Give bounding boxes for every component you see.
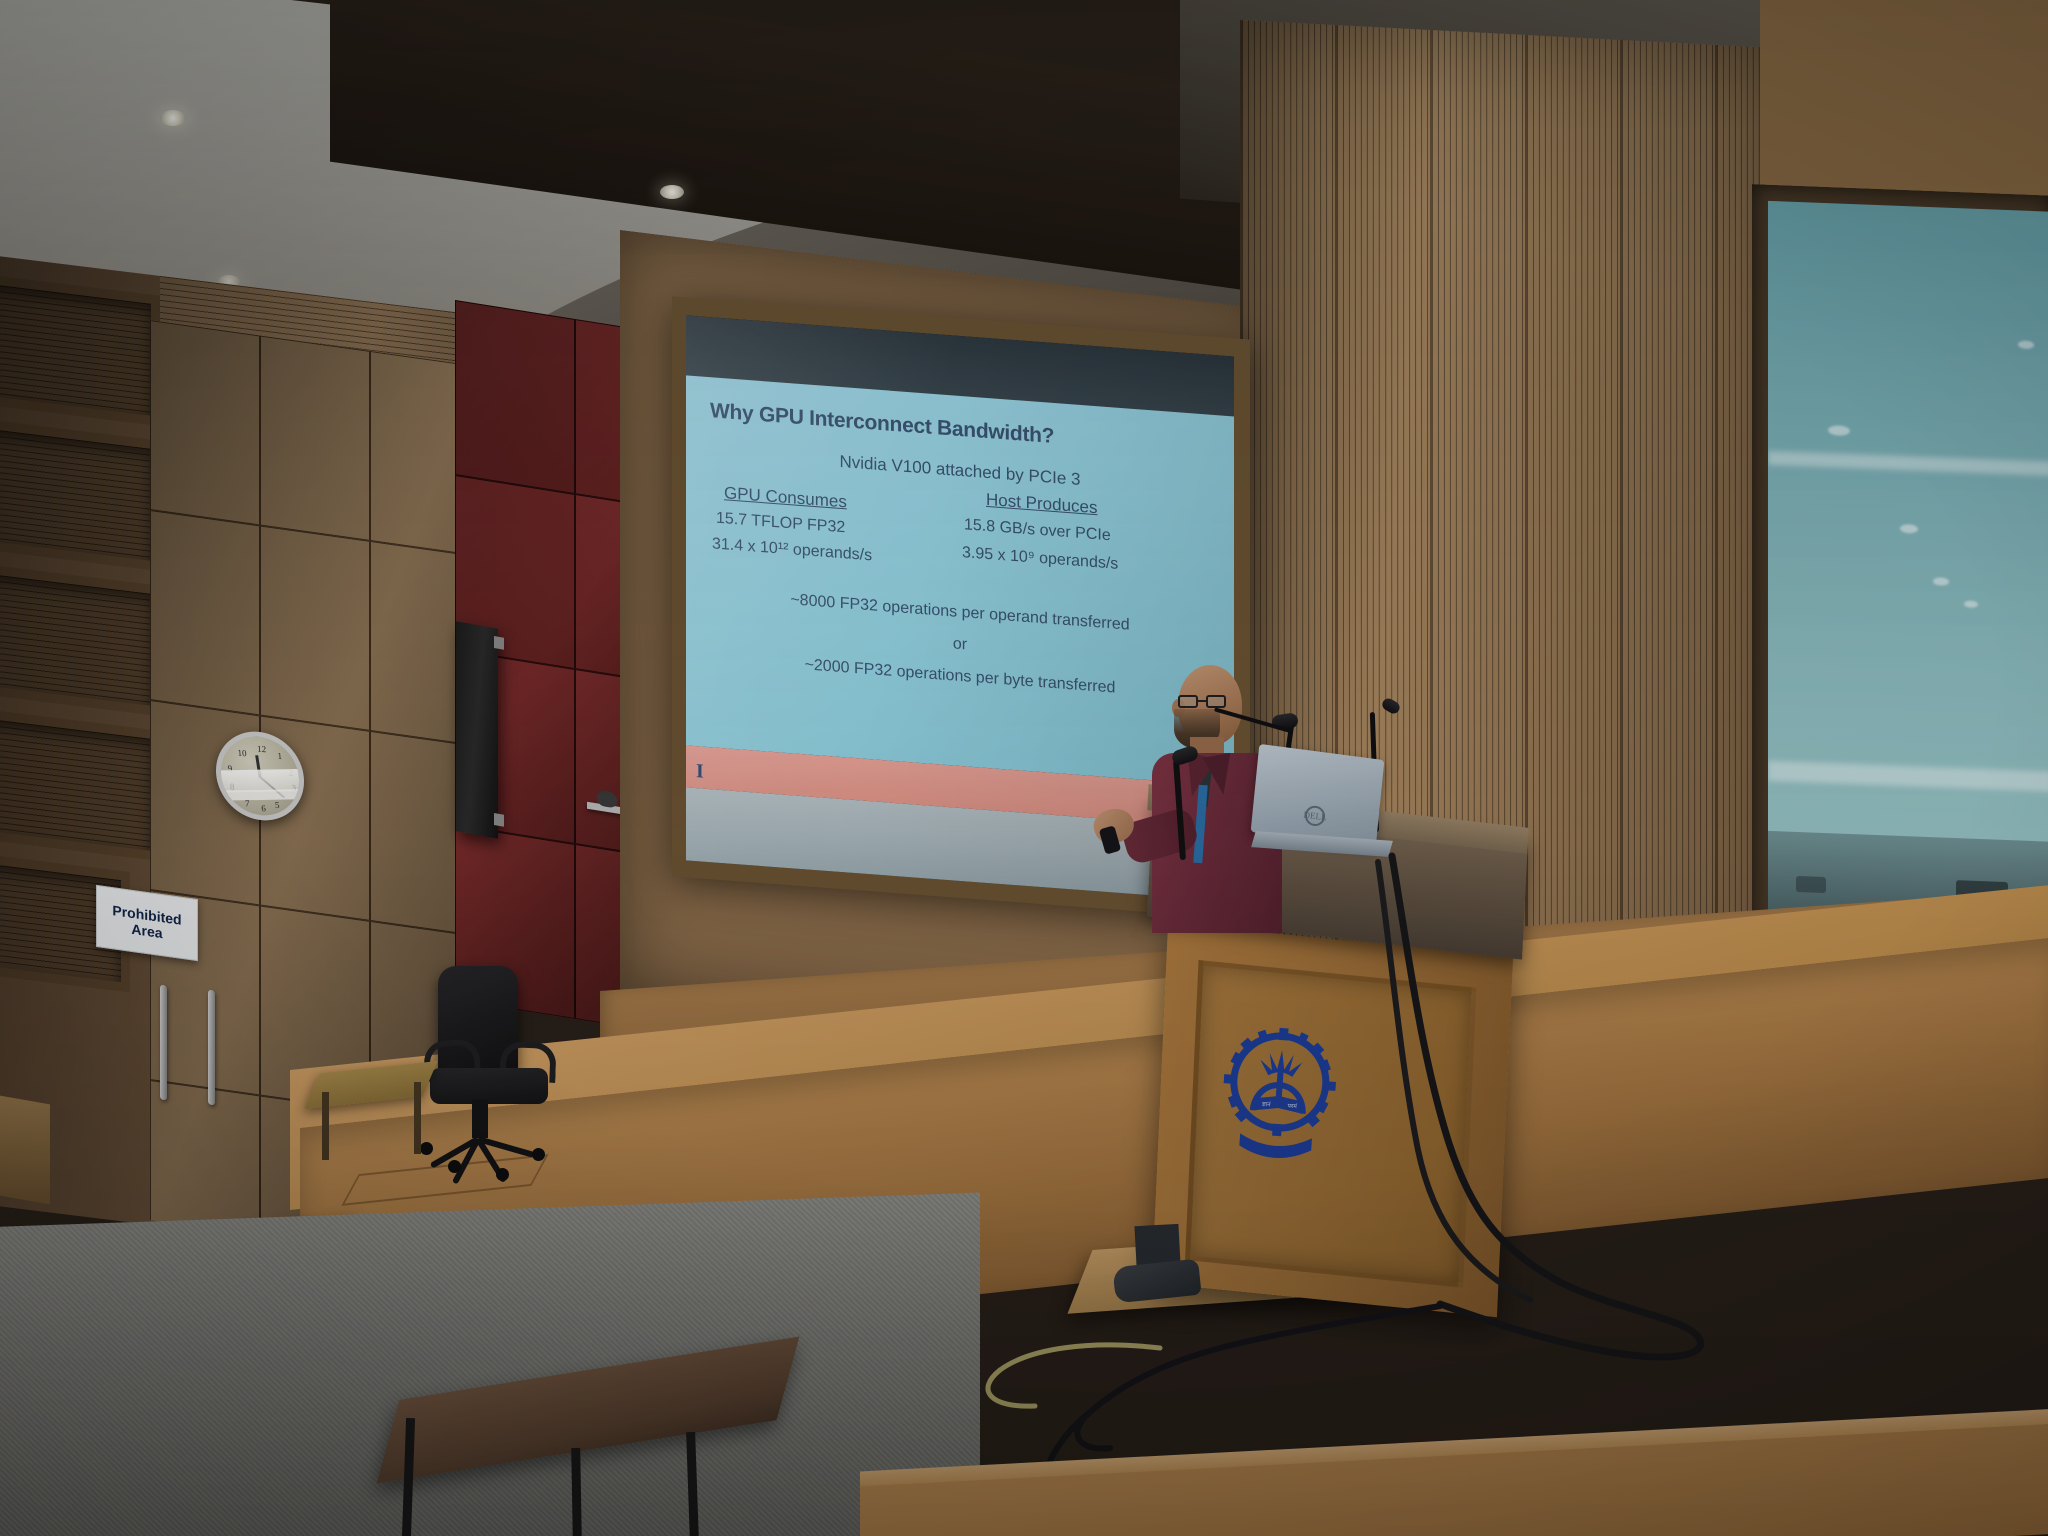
chair-caster <box>448 1160 461 1173</box>
left-column-line-1: 15.7 TFLOP FP32 <box>716 510 845 538</box>
chair-caster <box>532 1148 545 1161</box>
chair-caster <box>420 1142 433 1155</box>
speaker-bracket <box>494 636 504 650</box>
right-column-line-2: 3.95 x 10⁹ operands/s <box>962 544 1118 574</box>
ceiling-downlight <box>160 110 186 126</box>
door-handle[interactable] <box>208 990 215 1106</box>
stool-leg <box>322 1092 329 1160</box>
side-table-leg <box>571 1448 582 1536</box>
right-column-heading: Host Produces <box>986 490 1098 518</box>
clock-glare <box>213 789 307 801</box>
presenter-glasses <box>1178 695 1198 708</box>
presenter-glasses <box>1206 695 1226 708</box>
glass-window-pane <box>1768 201 2048 972</box>
window-light-reflection <box>1828 425 1850 436</box>
window-light-reflection <box>2018 340 2034 349</box>
left-column-line-2: 31.4 x 10¹² operands/s <box>712 535 872 565</box>
lecture-hall-scene: 12 1 2 3 5 6 7 8 9 10 Prohibited Area <box>0 0 2048 1536</box>
chair-caster <box>496 1168 509 1181</box>
slide-title: Why GPU Interconnect Bandwidth? <box>710 399 1054 449</box>
clock-numeral: 6 <box>261 803 266 813</box>
carpet-texture <box>0 1193 980 1536</box>
window-reflection-band <box>1768 761 2048 792</box>
wall-speaker <box>456 621 498 838</box>
right-column-line-1: 15.8 GB/s over PCIe <box>964 516 1111 545</box>
clock-numeral: 12 <box>257 744 267 755</box>
window-light-reflection <box>1933 577 1949 586</box>
clock-numeral: 10 <box>237 748 247 759</box>
presenter-glasses-bridge <box>1198 700 1206 702</box>
clock-numeral: 1 <box>277 751 282 761</box>
ceiling-downlight <box>660 185 684 199</box>
window-reflection-band <box>1768 451 2048 476</box>
svg-text:ज्ञानं: ज्ञानं <box>1262 1101 1272 1109</box>
stool-leg <box>414 1082 421 1154</box>
carpet-floor <box>0 1193 980 1536</box>
speaker-bracket <box>494 813 504 827</box>
window-object-silhouette <box>1796 876 1826 893</box>
chair-gas-lift <box>472 1100 488 1138</box>
window-light-reflection <box>1964 600 1978 608</box>
illinois-logo: I <box>696 760 704 784</box>
iit-bombay-emblem: ज्ञानं परमं <box>1210 1016 1348 1173</box>
door-handle[interactable] <box>160 985 167 1101</box>
left-column-heading: GPU Consumes <box>724 483 847 512</box>
chair-seat <box>430 1068 548 1104</box>
wood-block-left <box>0 1096 50 1205</box>
sign-line-2: Area <box>131 921 162 941</box>
window-light-reflection <box>1900 524 1918 534</box>
svg-text:परमं: परमं <box>1287 1103 1297 1111</box>
glass-window-frame <box>1752 184 2048 986</box>
clock-numeral: 5 <box>275 800 280 810</box>
dell-logo: DELL <box>1304 805 1326 828</box>
